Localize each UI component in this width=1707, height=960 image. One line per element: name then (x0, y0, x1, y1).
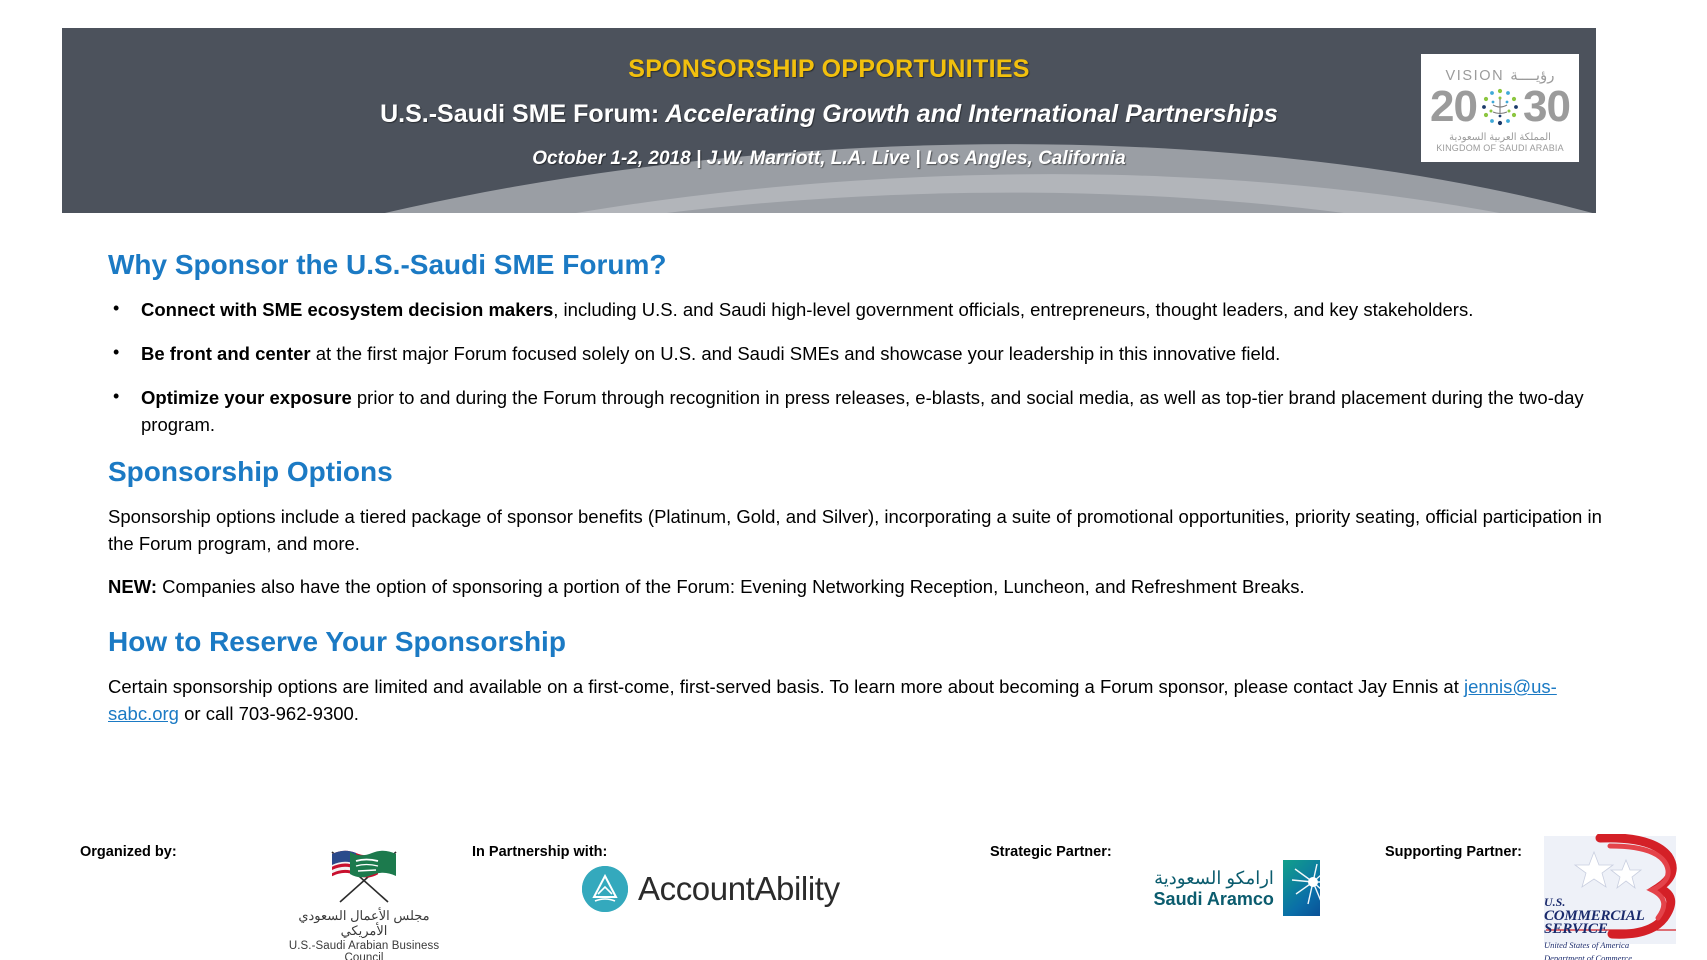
why-sponsor-heading: Why Sponsor the U.S.-Saudi SME Forum? (108, 248, 1608, 282)
reserve-text-after: or call 703-962-9300. (179, 703, 359, 724)
why-sponsor-bullet-list: Connect with SME ecosystem decision make… (108, 296, 1608, 438)
partner-organized-by: Organized by: (80, 826, 410, 960)
partner-label-strategic: Strategic Partner: (990, 844, 1112, 860)
bullet-2-rest: at the first major Forum focused solely … (311, 343, 1281, 364)
bullet-1-bold: Connect with SME ecosystem decision make… (141, 299, 553, 320)
sponsorship-options-paragraph: Sponsorship options include a tiered pac… (108, 503, 1608, 557)
crossed-flags-icon (284, 844, 444, 906)
aramco-wordmark: ارامكو السعودية Saudi Aramco (1112, 867, 1274, 910)
how-to-reserve-heading: How to Reserve Your Sponsorship (108, 625, 1608, 659)
vision-kingdom-arabic: المملكة العربية السعودية (1436, 132, 1564, 143)
list-item: Connect with SME ecosystem decision make… (108, 296, 1608, 323)
banner-subtitle-bold: U.S.-Saudi SME Forum: (380, 100, 659, 128)
bullet-3-bold: Optimize your exposure (141, 387, 352, 408)
sponsorship-new-paragraph: NEW: Companies also have the option of s… (108, 573, 1608, 600)
accountability-wordmark: AccountAbility (638, 870, 840, 908)
new-text: Companies also have the option of sponso… (157, 576, 1305, 597)
banner-event-details: October 1-2, 2018 | J.W. Marriott, L.A. … (62, 148, 1596, 170)
banner-subtitle-italic: Accelerating Growth and International Pa… (659, 100, 1278, 128)
bullet-3-rest: prior to and during the Forum through re… (141, 387, 1584, 435)
accountability-triangle-icon (582, 866, 628, 912)
new-label: NEW: (108, 576, 157, 597)
partner-label-in-partnership-with: In Partnership with: (472, 844, 607, 860)
vision-logo-year-row: 20 (1430, 84, 1570, 130)
bullet-2-bold: Be front and center (141, 343, 311, 364)
ucs-wordmark: U.S. COMMERCIAL SERVICE United States of… (1544, 896, 1645, 960)
vision-year-left: 20 (1430, 85, 1477, 129)
slide-page: SPONSORSHIP OPPORTUNITIES U.S.-Saudi SME… (0, 0, 1707, 960)
sponsorship-options-heading: Sponsorship Options (108, 455, 1608, 489)
us-commercial-service-logo: U.S. COMMERCIAL SERVICE United States of… (1540, 834, 1690, 954)
main-content: Why Sponsor the U.S.-Saudi SME Forum? Co… (108, 248, 1608, 743)
sabc-english-name: U.S.-Saudi Arabian Business Council (278, 940, 450, 960)
partner-label-organized-by: Organized by: (80, 844, 177, 860)
vision-logo-kingdom-row: المملكة العربية السعودية KINGDOM OF SAUD… (1436, 132, 1564, 154)
list-item: Optimize your exposure prior to and duri… (108, 384, 1608, 438)
aramco-arabic-name: ارامكو السعودية (1154, 868, 1274, 888)
bullet-1-rest: , including U.S. and Saudi high-level go… (553, 299, 1473, 320)
aramco-starburst-icon (1283, 860, 1320, 916)
sabc-arabic-name: مجلس الأعمال السعودي الأمريكي (278, 908, 450, 938)
header-banner: SPONSORSHIP OPPORTUNITIES U.S.-Saudi SME… (62, 28, 1596, 213)
partner-supporting: Supporting Partner: U.S. COMMERCIAL SERV… (1385, 826, 1695, 960)
partner-label-supporting: Supporting Partner: (1385, 844, 1522, 860)
saudi-palm-swords-emblem-icon (1478, 85, 1522, 129)
us-saudi-arabian-business-council-logo: مجلس الأعمال السعودي الأمريكي U.S.-Saudi… (278, 844, 450, 960)
partner-in-partnership-with: In Partnership with: AccountAbility (472, 826, 892, 960)
banner-title: SPONSORSHIP OPPORTUNITIES (62, 55, 1596, 84)
partner-strategic: Strategic Partner: ارامكو السعودية Saudi… (990, 826, 1320, 960)
ucs-line-5: Department of Commerce (1544, 952, 1645, 960)
saudi-aramco-logo: ارامكو السعودية Saudi Aramco (1112, 860, 1320, 916)
aramco-english-name: Saudi Aramco (1154, 889, 1274, 909)
how-to-reserve-paragraph: Certain sponsorship options are limited … (108, 673, 1608, 727)
ucs-line-4: United States of America (1544, 939, 1645, 953)
banner-subtitle: U.S.-Saudi SME Forum: Accelerating Growt… (62, 100, 1596, 129)
vision-kingdom-english: KINGDOM OF SAUDI ARABIA (1436, 143, 1564, 154)
vision-2030-logo: VISION رؤيــــة 20 (1421, 54, 1579, 162)
accountability-logo: AccountAbility (582, 866, 840, 912)
ucs-line-3: SERVICE (1544, 923, 1645, 937)
vision-year-right: 30 (1523, 85, 1570, 129)
list-item: Be front and center at the first major F… (108, 340, 1608, 367)
reserve-text-before: Certain sponsorship options are limited … (108, 676, 1464, 697)
footer-partners: Organized by: (0, 826, 1707, 960)
